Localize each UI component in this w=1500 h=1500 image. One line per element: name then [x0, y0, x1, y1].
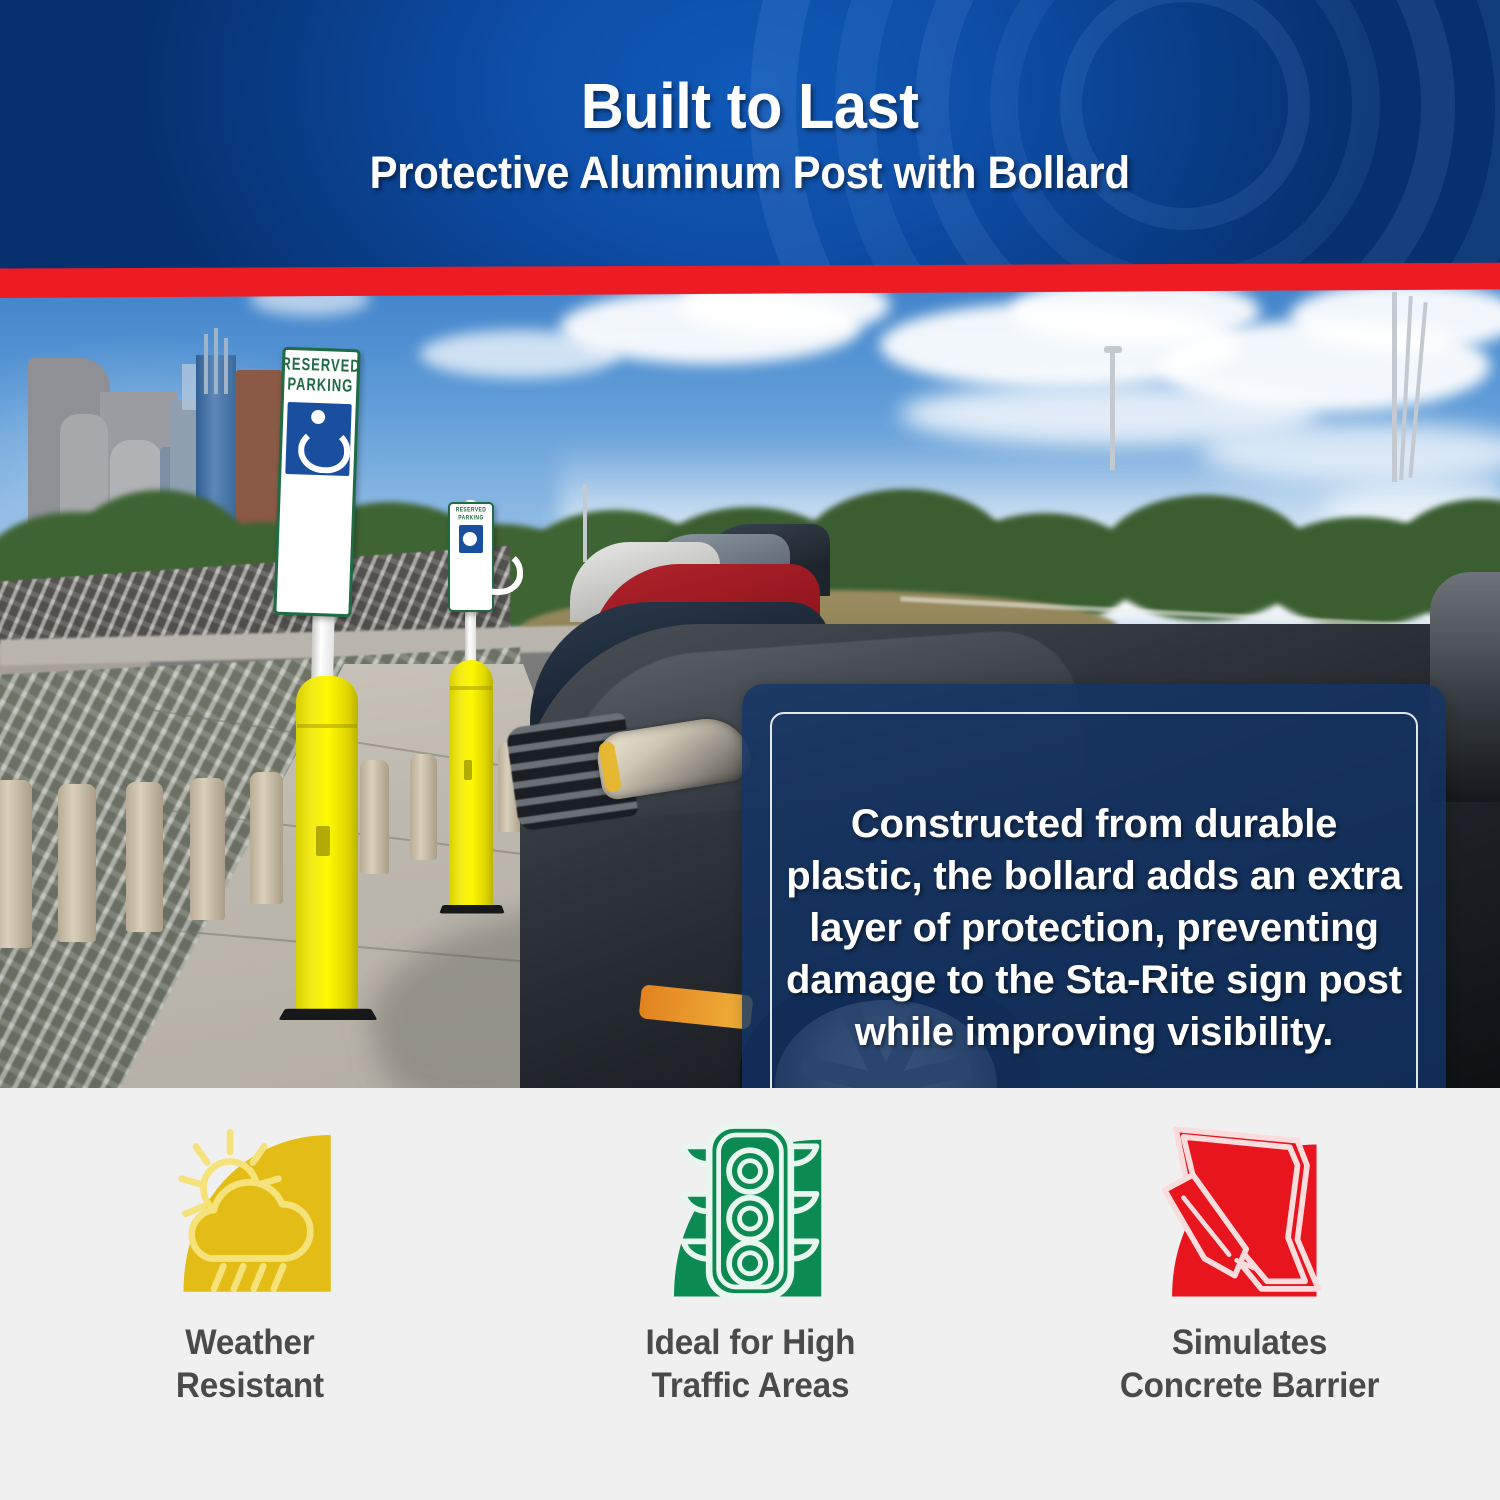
header-banner: Built to Last Protective Aluminum Post w…: [0, 0, 1500, 272]
feature-weather-resistant: Weather Resistant: [30, 1116, 470, 1407]
page-subtitle: Protective Aluminum Post with Bollard: [370, 148, 1130, 198]
sign-line-2: PARKING: [458, 514, 484, 522]
parking-sign-main: RESERVED PARKING: [273, 347, 360, 618]
sun-cloud-rain-icon: [155, 1116, 345, 1306]
light-pole: [1392, 292, 1397, 482]
sign-line-1: RESERVED: [456, 506, 487, 514]
feature-footer: Weather Resistant: [0, 1088, 1500, 1500]
bollard-base-plate-main: [279, 1009, 378, 1020]
callout-text: Constructed from durable plastic, the bo…: [782, 798, 1406, 1058]
feature-label: Simulates Concrete Barrier: [1120, 1322, 1379, 1407]
bollard-base-plate-distant: [439, 905, 504, 913]
parking-sign-distant: RESERVED PARKING: [448, 502, 494, 612]
light-pole: [583, 484, 587, 562]
traffic-light-icon: [655, 1116, 845, 1306]
light-pole-head: [1104, 346, 1122, 353]
yellow-bollard-distant: [449, 660, 493, 908]
description-callout: Constructed from durable plastic, the bo…: [742, 684, 1446, 1088]
feature-high-traffic: Ideal for High Traffic Areas: [530, 1116, 970, 1407]
light-pole: [1110, 350, 1115, 470]
page-title: Built to Last: [581, 73, 919, 140]
feature-label: Ideal for High Traffic Areas: [645, 1322, 855, 1407]
sign-line-2: PARKING: [287, 373, 354, 396]
yellow-bollard-main: [296, 676, 358, 1012]
wheelchair-accessible-icon: [459, 525, 483, 553]
wheelchair-accessible-icon: [285, 402, 351, 476]
feature-concrete-barrier: Simulates Concrete Barrier: [1030, 1116, 1470, 1407]
product-infographic: Built to Last Protective Aluminum Post w…: [0, 0, 1500, 1500]
product-photo: RESERVED PARKING: [0, 272, 1500, 1088]
concrete-barrier-icon: [1155, 1116, 1345, 1306]
feature-label: Weather Resistant: [176, 1322, 324, 1407]
